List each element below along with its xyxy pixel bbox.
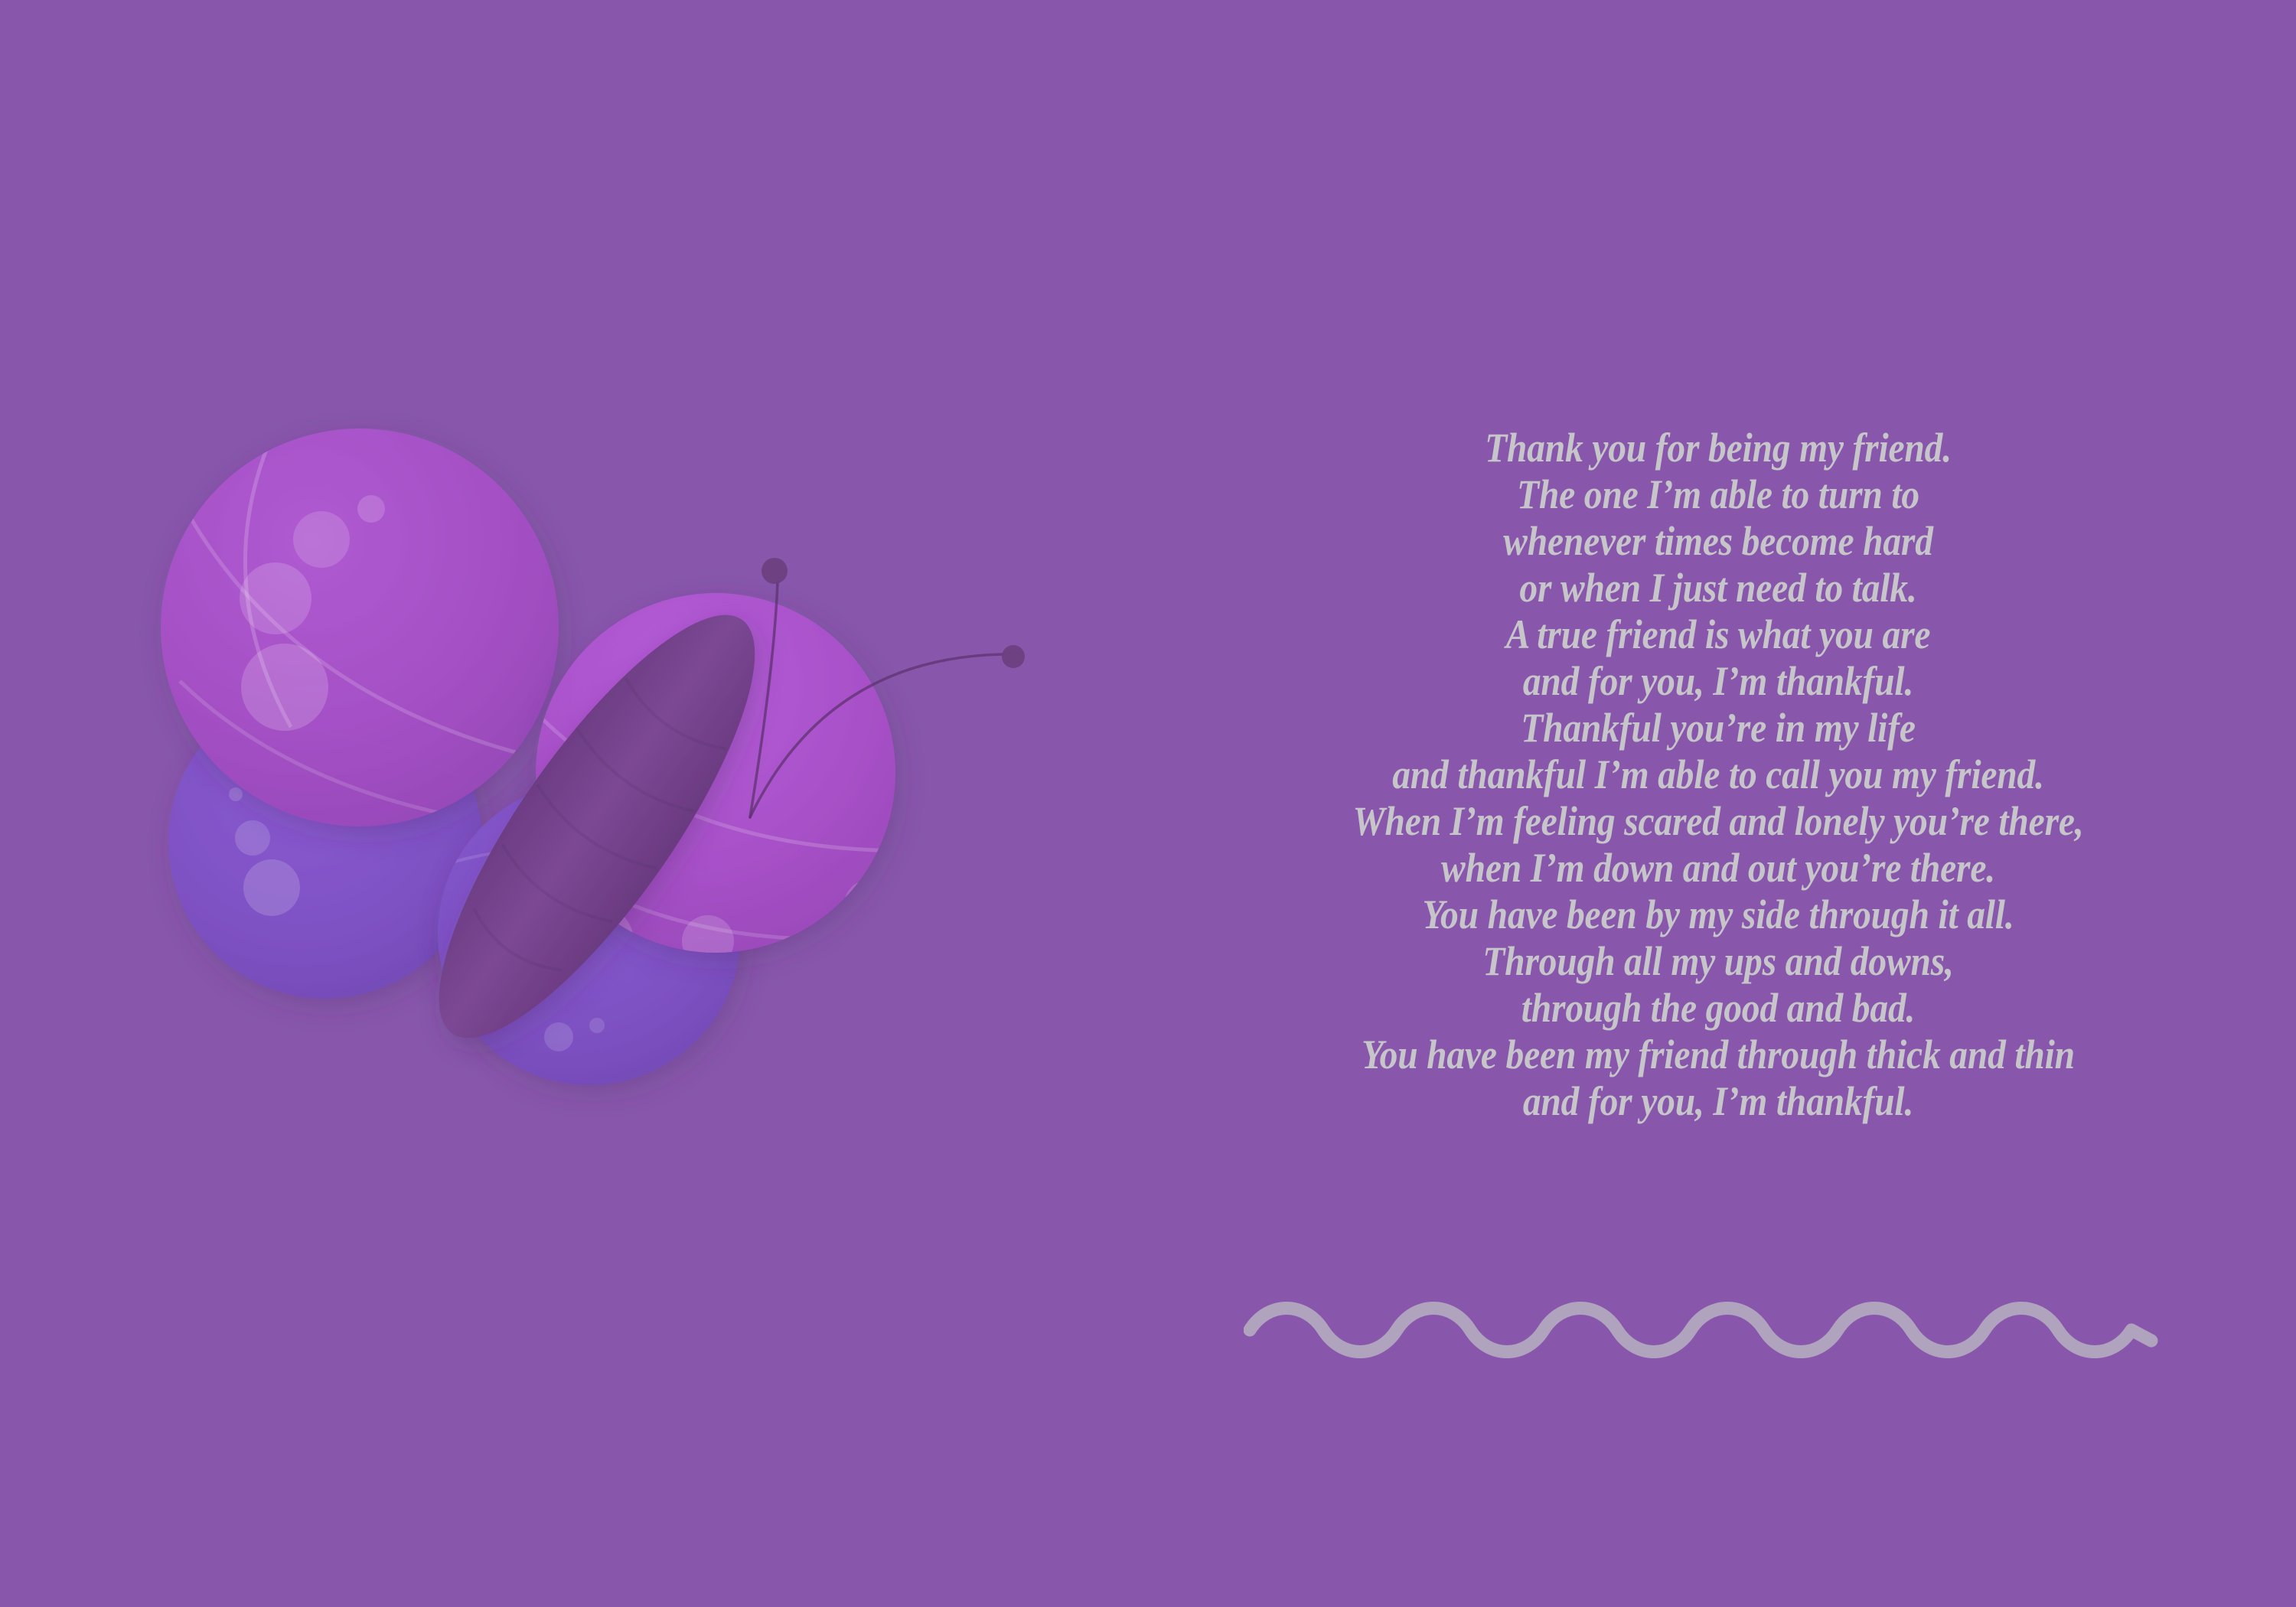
poem-line: When I’m feeling scared and lonely you’r… xyxy=(1290,798,2146,845)
poem-line: when I’m down and out you’re there. xyxy=(1290,845,2146,892)
poem-line: Thank you for being my friend. xyxy=(1290,425,2146,471)
poem-text-block: Thank you for being my friend. The one I… xyxy=(1290,425,2146,1125)
antenna-knob-left xyxy=(762,558,788,584)
poem-line: and thankful I’m able to call you my fri… xyxy=(1290,751,2146,798)
antenna-knob-right xyxy=(1002,645,1025,668)
wavy-divider xyxy=(1244,1293,2158,1377)
poem-line: The one I’m able to turn to xyxy=(1290,471,2146,518)
poem-line: through the good and bad. xyxy=(1290,985,2146,1032)
poem-line: Through all my ups and downs, xyxy=(1290,938,2146,985)
poem-line: and for you, I’m thankful. xyxy=(1290,658,2146,705)
poem-line: Thankful you’re in my life xyxy=(1290,705,2146,751)
poem-line: and for you, I’m thankful. xyxy=(1290,1078,2146,1125)
greeting-card-canvas: Thank you for being my friend. The one I… xyxy=(0,0,2296,1607)
poem-line: You have been my friend through thick an… xyxy=(1290,1032,2146,1078)
wavy-line-path xyxy=(1250,1309,2151,1352)
poem-line: A true friend is what you are xyxy=(1290,611,2146,658)
wing-upper-left xyxy=(161,429,597,834)
poem-line: whenever times become hard xyxy=(1290,518,2146,565)
poem-line: or when I just need to talk. xyxy=(1290,565,2146,611)
butterfly-illustration xyxy=(138,329,1056,1286)
poem-line: You have been by my side through it all. xyxy=(1290,892,2146,938)
